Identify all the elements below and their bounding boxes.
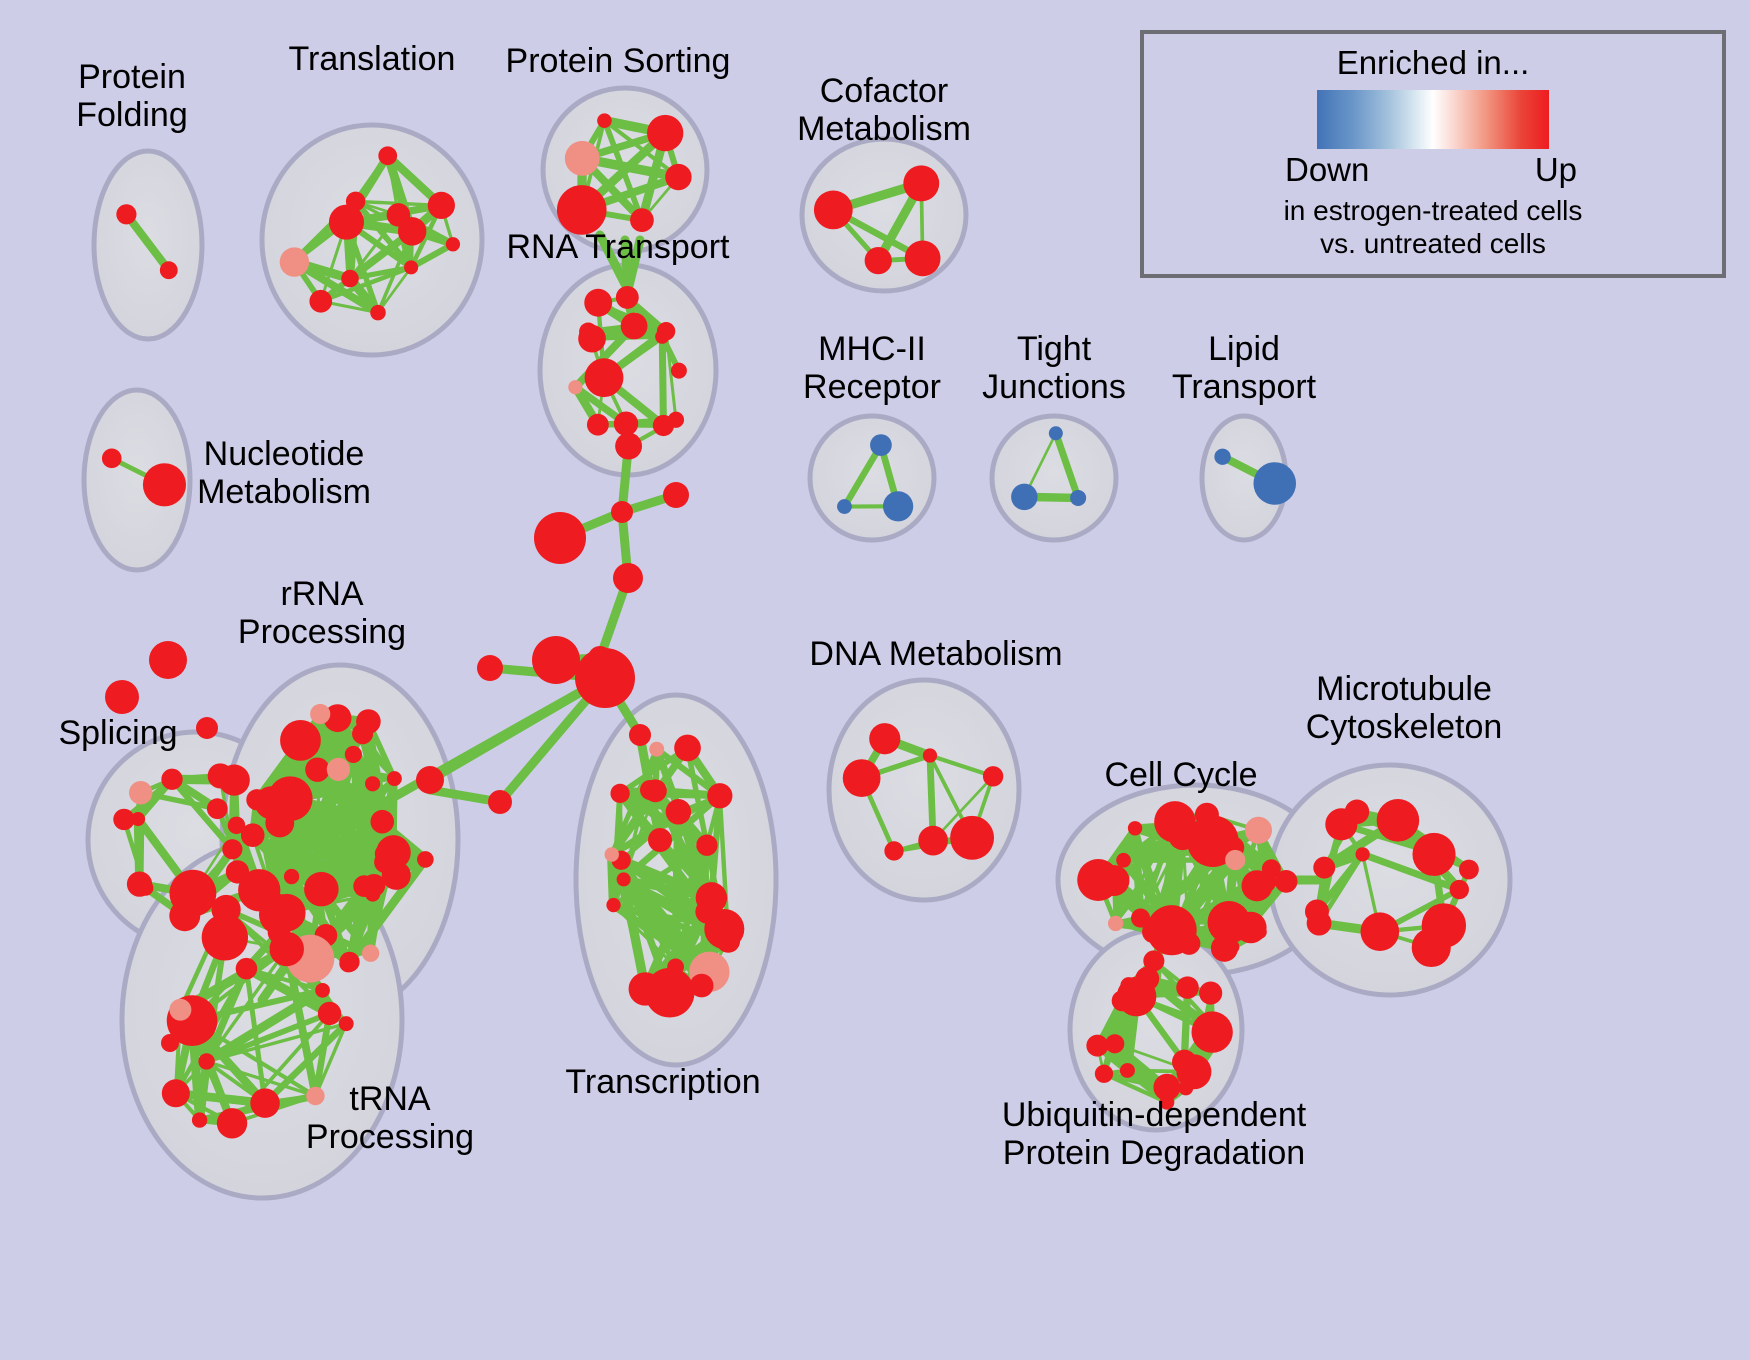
legend-low-label: Down [1285,151,1369,189]
network-node [883,491,913,521]
network-node [865,247,892,274]
network-node [315,983,330,998]
network-node [387,771,402,786]
network-node [268,776,313,821]
network-node [161,769,182,790]
network-node [1116,853,1131,868]
network-node [226,860,249,883]
network-node [1412,833,1455,876]
network-node [653,415,674,436]
network-node [222,839,242,859]
network-node [1176,976,1199,999]
network-node [903,165,939,201]
network-node [1275,870,1298,893]
cluster-ellipse-mhc-ii-receptor [810,416,934,540]
network-node [1235,912,1267,944]
network-node [1199,982,1222,1005]
legend-caption: in estrogen-treated cells vs. untreated … [1144,194,1722,260]
network-node [1214,449,1230,465]
legend-endpoint-labels: Down Up [1283,151,1583,193]
network-node [1143,950,1164,971]
network-node [1120,1063,1134,1077]
network-node [362,945,379,962]
network-node [1253,462,1296,505]
network-node [716,929,740,953]
network-node [587,414,609,436]
network-node [211,895,240,924]
network-node [585,358,624,397]
network-node [341,270,359,288]
network-node [198,1053,214,1069]
network-node [149,641,187,679]
network-node [162,1079,190,1107]
network-node [127,871,152,896]
network-node [161,1034,179,1052]
network-node [365,776,380,791]
network-node [870,434,892,456]
network-node [696,835,717,856]
network-node [306,1087,324,1105]
network-node [696,882,727,913]
network-node [597,113,612,128]
network-node [250,1088,280,1118]
network-node [398,217,426,245]
network-node [1254,871,1276,893]
network-node [339,1016,354,1031]
network-node [557,185,607,235]
enrichment-network-figure: ProteinFoldingTranslationProtein Sorting… [0,0,1750,1360]
network-node [532,636,580,684]
network-node [192,1112,207,1127]
network-node [280,247,309,276]
network-node [640,780,660,800]
network-node [269,932,304,967]
network-node [1206,1036,1223,1053]
network-node [1225,940,1239,954]
network-node [918,826,948,856]
network-node [843,759,881,797]
network-node [236,958,258,980]
network-node [648,828,672,852]
network-node [611,501,633,523]
network-node [280,720,321,761]
network-node [345,746,362,763]
legend-panel: Enriched in... Down Up in estrogen-treat… [1140,30,1726,278]
network-node [568,380,582,394]
network-node [1305,900,1329,924]
network-node [1361,912,1400,951]
network-node [169,900,200,931]
network-node [614,411,638,435]
network-node [707,783,732,808]
network-node [169,999,191,1021]
network-node [1356,847,1370,861]
network-node [404,260,418,274]
network-node [666,799,691,824]
network-node [905,241,941,277]
network-node [217,1108,247,1138]
network-node [1099,865,1130,896]
network-node [305,757,329,781]
network-node [370,810,394,834]
network-node [1459,860,1479,880]
legend-high-label: Up [1535,151,1577,189]
network-node [621,313,648,340]
network-node [657,322,675,340]
network-node [1070,490,1086,506]
network-node [346,192,365,211]
network-node [1120,977,1137,994]
network-node [606,898,620,912]
network-node [534,512,586,564]
network-node [446,237,460,251]
network-node [1377,799,1420,842]
network-node [284,869,299,884]
network-node [488,790,512,814]
network-node [370,305,386,321]
network-node [310,704,330,724]
network-node [605,847,619,861]
network-node [610,784,629,803]
network-node [674,735,701,762]
network-node [629,724,651,746]
network-node [102,449,122,469]
network-node [477,655,503,681]
network-node [615,433,642,460]
network-node [837,499,852,514]
network-node [352,723,373,744]
network-node [869,723,900,754]
network-edge [662,337,663,426]
network-node [1225,850,1245,870]
network-node [649,742,664,757]
network-node [309,290,332,313]
network-node [923,748,937,762]
network-node [1412,928,1451,967]
network-node [143,463,186,506]
network-node [647,115,683,151]
network-node [1153,1074,1180,1101]
legend-color-gradient-bar [1317,90,1549,149]
network-node [129,781,152,804]
network-node [113,809,134,830]
network-node [376,835,411,870]
network-node [1245,817,1272,844]
network-node [327,758,350,781]
network-node [578,325,606,353]
network-node [339,952,359,972]
network-node [584,289,612,317]
network-node [575,648,635,708]
network-node [318,1002,341,1025]
legend-title: Enriched in... [1144,44,1722,82]
network-node [1172,1050,1197,1075]
network-node [665,164,691,190]
network-node [950,816,994,860]
network-node [416,766,444,794]
network-node [219,765,250,796]
network-node [671,363,687,379]
network-node [1131,909,1150,928]
network-node [613,563,643,593]
network-node [1128,821,1142,835]
network-node [353,875,375,897]
legend-caption-line-2: vs. untreated cells [1144,227,1722,260]
network-node [663,482,689,508]
network-node [814,190,853,229]
network-node [1086,1035,1108,1057]
network-node [630,208,654,232]
network-node [629,972,662,1005]
network-node [983,766,1003,786]
network-node [116,204,136,224]
network-node [417,851,434,868]
network-node [196,717,218,739]
network-node [105,680,139,714]
legend-caption-line-1: in estrogen-treated cells [1144,194,1722,227]
network-node [1313,857,1335,879]
network-node [1179,1081,1194,1096]
network-node [667,958,684,975]
network-node [160,261,178,279]
network-node [616,286,639,309]
network-node [207,798,228,819]
network-node [378,146,397,165]
network-node [1108,916,1123,931]
network-node [617,872,631,886]
network-node [1011,484,1037,510]
network-node [884,841,903,860]
network-node [565,141,600,176]
network-node [428,192,455,219]
network-node [1345,800,1370,825]
network-node [241,823,265,847]
network-node [1049,426,1063,440]
network-node [1095,1065,1113,1083]
network-node [304,872,339,907]
network-node [1450,880,1469,899]
